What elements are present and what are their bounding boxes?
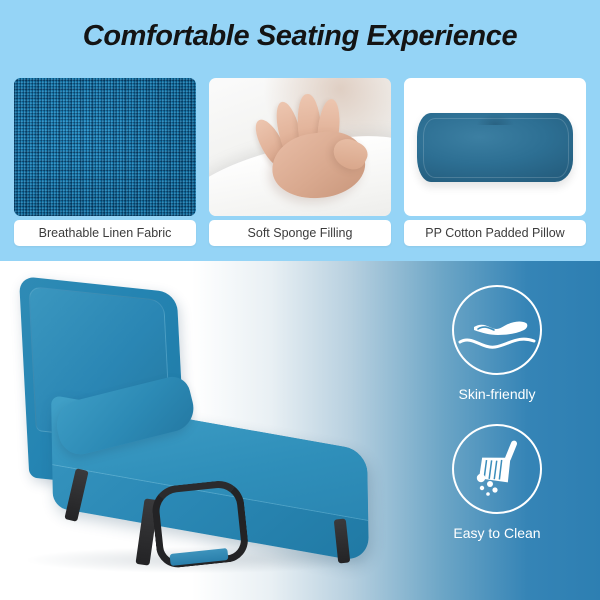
metal-support-bar [154, 483, 246, 565]
broom-with-dust-icon [452, 424, 542, 514]
product-showcase-section: Skin-friendly [0, 261, 600, 600]
hand-pressing-icon [256, 89, 369, 205]
card-label-pillow: PP Cotton Padded Pillow [404, 220, 586, 246]
product-image-chaise-lounge [8, 271, 388, 591]
feature-card-pillow: PP Cotton Padded Pillow [404, 78, 586, 246]
pillow-seam [423, 118, 569, 178]
top-banner-section: Comfortable Seating Experience Breathabl… [0, 0, 600, 261]
feature-card-row: Breathable Linen Fabric [14, 78, 586, 246]
feature-card-sponge: Soft Sponge Filling [209, 78, 391, 246]
pillow-image [404, 78, 586, 216]
sponge-foam-image [209, 78, 391, 216]
linen-texture-swatch [14, 78, 196, 216]
card-label-linen: Breathable Linen Fabric [14, 220, 196, 246]
page-title: Comfortable Seating Experience [0, 20, 600, 53]
feature-label-skin-friendly: Skin-friendly [412, 386, 582, 402]
feature-label-easy-to-clean: Easy to Clean [412, 525, 582, 541]
foam-photo [209, 78, 391, 216]
card-label-sponge: Soft Sponge Filling [209, 220, 391, 246]
pillow-photo [404, 78, 586, 216]
linen-fabric-image [14, 78, 196, 216]
feature-badge-easy-to-clean: Easy to Clean [412, 424, 582, 541]
pillow-body [417, 113, 574, 182]
feature-card-linen: Breathable Linen Fabric [14, 78, 196, 246]
hand-with-wave-icon [452, 285, 542, 375]
feature-badge-column: Skin-friendly [412, 285, 582, 563]
feature-badge-skin-friendly: Skin-friendly [412, 285, 582, 402]
pillow-crease [476, 114, 514, 125]
product-infographic: Comfortable Seating Experience Breathabl… [0, 0, 600, 600]
